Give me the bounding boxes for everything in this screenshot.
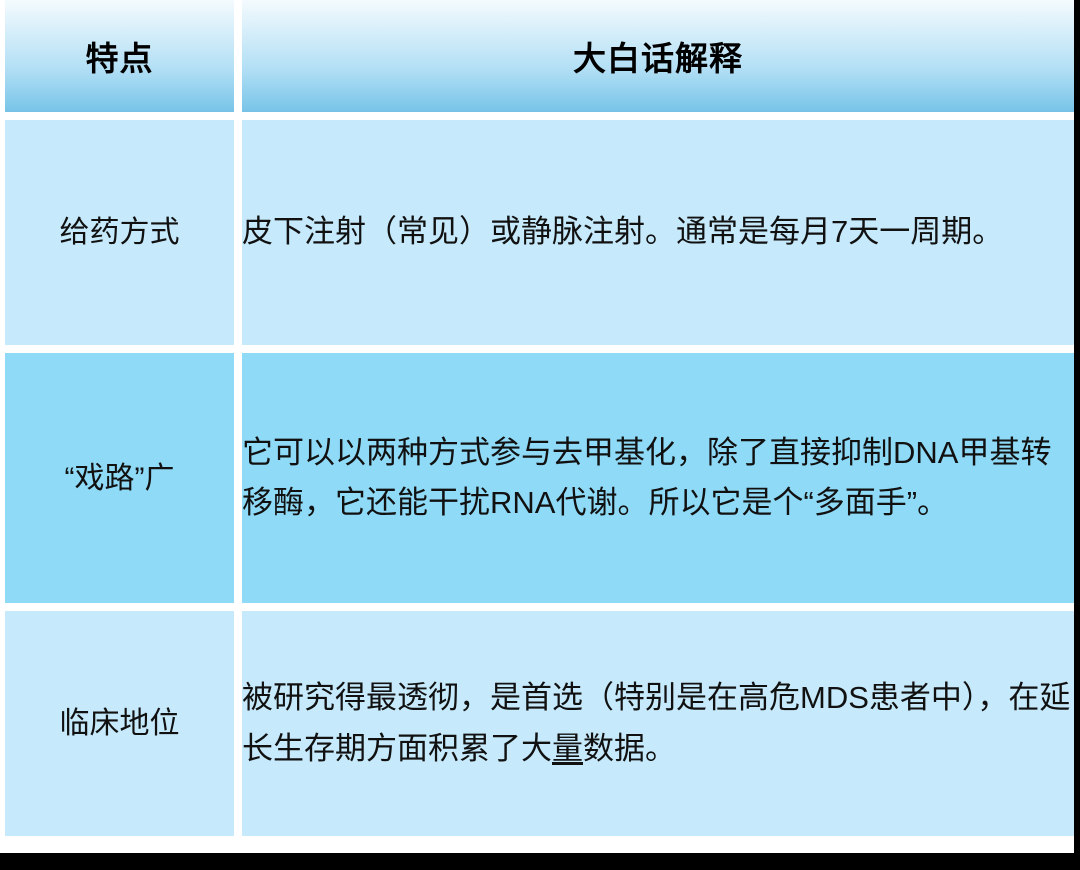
table-row: “戏路”广 它可以以两种方式参与去甲基化，除了直接抑制DNA甲基转移酶，它还能干… [5, 353, 1074, 611]
explanation-text-part-2: 数据。 [583, 731, 676, 766]
row-explanation-paragraph: 皮下注射（常见）或静脉注射。通常是每月7天一周期。 [242, 207, 1074, 257]
table-header-row: 特点 大白话解释 [5, 0, 1074, 120]
row-explanation-text: 皮下注射（常见）或静脉注射。通常是每月7天一周期。 [242, 120, 1074, 353]
row-feature-label: 给药方式 [5, 120, 242, 353]
row-explanation-paragraph: 它可以以两种方式参与去甲基化，除了直接抑制DNA甲基转移酶，它还能干扰RNA代谢… [242, 428, 1074, 528]
comparison-table: 特点 大白话解释 给药方式 皮下注射（常见）或静脉注射。通常是每月7天一周期。 … [5, 0, 1074, 844]
row-feature-label: 临床地位 [5, 611, 242, 844]
screenshot-root: 特点 大白话解释 给药方式 皮下注射（常见）或静脉注射。通常是每月7天一周期。 … [0, 0, 1080, 870]
explanation-underlined-text: 量 [552, 731, 583, 766]
column-header-feature: 特点 [5, 0, 242, 120]
column-header-explanation: 大白话解释 [242, 0, 1074, 120]
table-header: 特点 大白话解释 [5, 0, 1074, 120]
row-explanation-text: 它可以以两种方式参与去甲基化，除了直接抑制DNA甲基转移酶，它还能干扰RNA代谢… [242, 353, 1074, 611]
table-row: 给药方式 皮下注射（常见）或静脉注射。通常是每月7天一周期。 [5, 120, 1074, 353]
table-row: 临床地位 被研究得最透彻，是首选（特别是在高危MDS患者中），在延长生存期方面积… [5, 611, 1074, 844]
row-explanation-text: 被研究得最透彻，是首选（特别是在高危MDS患者中），在延长生存期方面积累了大量数… [242, 611, 1074, 844]
row-feature-label: “戏路”广 [5, 353, 242, 611]
table-body: 给药方式 皮下注射（常见）或静脉注射。通常是每月7天一周期。 “戏路”广 它可以… [5, 120, 1074, 844]
row-explanation-paragraph: 被研究得最透彻，是首选（特别是在高危MDS患者中），在延长生存期方面积累了大量数… [242, 673, 1074, 773]
frame-edge-right [1074, 0, 1080, 870]
frame-edge-bottom [0, 853, 1080, 870]
